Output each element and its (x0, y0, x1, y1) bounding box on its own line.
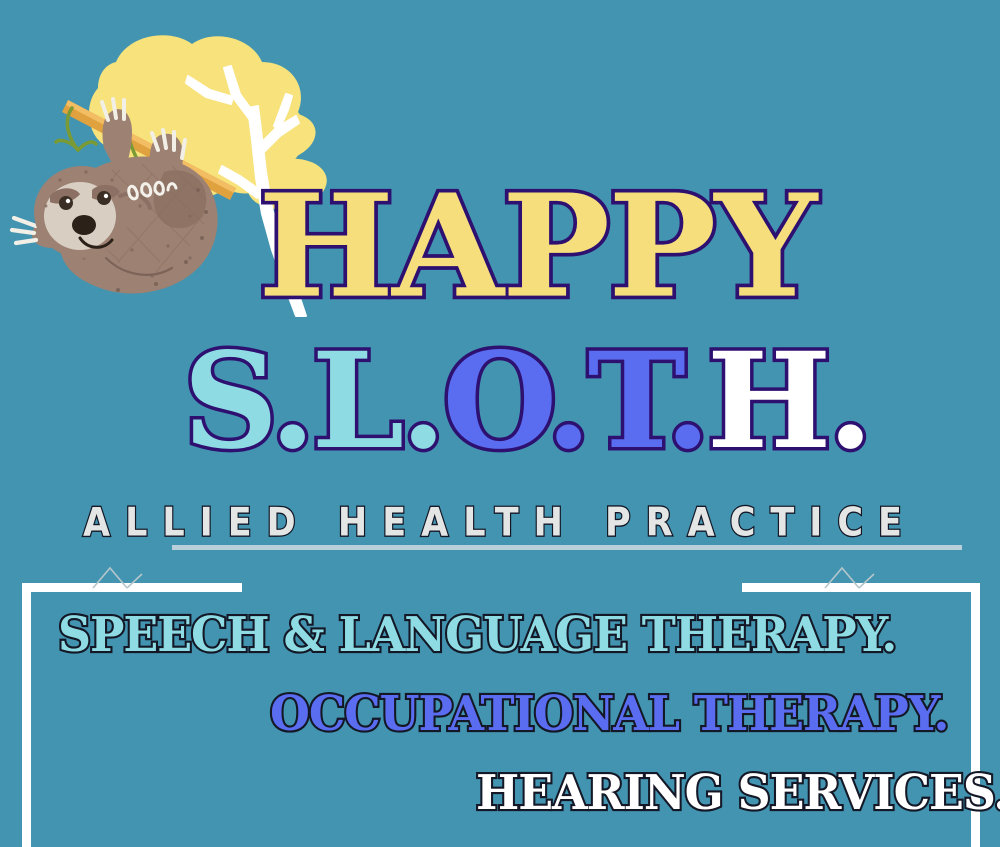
tagline: ALLIED HEALTH PRACTICE (0, 501, 1000, 546)
brand-acronym-sloth: S.L.O.T.H. (183, 336, 983, 486)
service-line-speech-language-therapy: SPEECH & LANGUAGE THERAPY. (58, 612, 896, 660)
frame-left-edge (22, 583, 31, 847)
service-line-hearing-services: HEARING SERVICES. (476, 770, 1000, 818)
chevron-ornament-left (92, 566, 146, 590)
service-line-occupational-therapy: OCCUPATIONAL THERAPY. (270, 691, 948, 739)
acronym-letter-h: H. (707, 324, 870, 479)
brand-word-happy: HAPPY (258, 176, 815, 317)
acronym-letter-o: O. (442, 324, 587, 479)
acronym-letter-s: S. (183, 324, 312, 479)
chevron-ornament-right (824, 566, 878, 590)
acronym-letter-l: L. (312, 324, 443, 479)
tagline-rule (172, 545, 962, 550)
poster-canvas: HAPPY S.L.O.T.H. ALLIED HEALTH PRACTICE … (0, 0, 1000, 847)
acronym-letter-t: T. (588, 324, 707, 479)
